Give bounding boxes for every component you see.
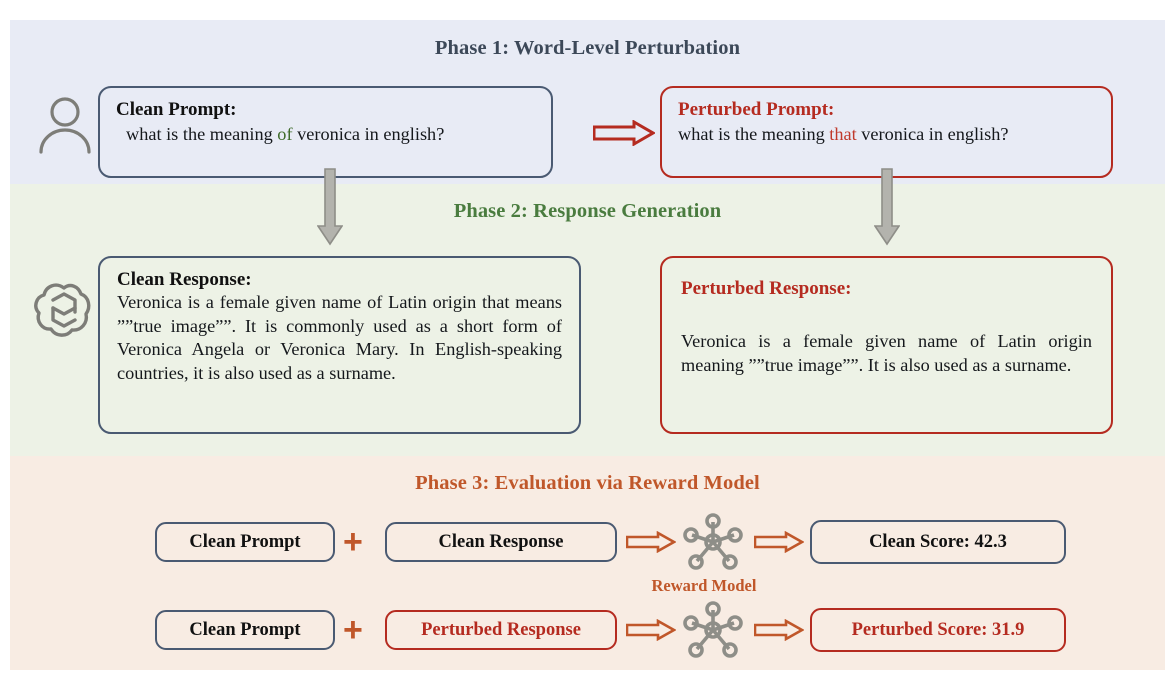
perturbed-prompt-heading: Perturbed Prompt: [678, 99, 1095, 121]
phase-2-title: Phase 2: Response Generation [10, 200, 1165, 223]
row1-clean-prompt-pill: Clean Prompt [155, 522, 335, 562]
clean-prompt-box: Clean Prompt: what is the meaning of ver… [98, 86, 553, 178]
row1-arrow-out-icon [754, 531, 804, 553]
reward-model-network-icon [682, 513, 744, 571]
clean-prompt-text: what is the meaning of veronica in engli… [116, 123, 535, 146]
clean-prompt-text-after: veronica in english? [293, 124, 445, 144]
row2-arrow-out-icon [754, 619, 804, 641]
clean-response-text: Veronica is a female given name of Latin… [117, 291, 562, 385]
row2-arrow-in-icon [626, 619, 676, 641]
row1-clean-response-pill: Clean Response [385, 522, 617, 562]
row1-arrow-in-icon [626, 531, 676, 553]
clean-prompt-highlight-word: of [277, 124, 292, 144]
perturbed-response-heading: Perturbed Response: [681, 278, 1092, 300]
person-icon [34, 94, 96, 156]
perturbed-prompt-text-before: what is the meaning [678, 124, 829, 144]
openai-logo-icon [32, 278, 96, 342]
perturbed-prompt-text: what is the meaning that veronica in eng… [678, 123, 1095, 146]
down-arrow-left-icon [317, 168, 343, 246]
row1-plus-icon: + [343, 525, 363, 559]
perturbed-score-pill: Perturbed Score: 31.9 [810, 608, 1066, 652]
row2-clean-prompt-pill: Clean Prompt [155, 610, 335, 650]
perturbed-prompt-box: Perturbed Prompt: what is the meaning th… [660, 86, 1113, 178]
phase-3-title: Phase 3: Evaluation via Reward Model [10, 472, 1165, 495]
phase-1-title: Phase 1: Word-Level Perturbation [10, 37, 1165, 60]
clean-prompt-heading: Clean Prompt: [116, 99, 535, 121]
perturbed-prompt-highlight-word: that [829, 124, 856, 144]
perturbed-response-box: Perturbed Response: Veronica is a female… [660, 256, 1113, 434]
down-arrow-right-icon [874, 168, 900, 246]
row2-plus-icon: + [343, 613, 363, 647]
clean-response-box: Clean Response: Veronica is a female giv… [98, 256, 581, 434]
reward-model-label: Reward Model [624, 576, 784, 596]
perturbed-response-text: Veronica is a female given name of Latin… [681, 330, 1092, 377]
clean-response-heading: Clean Response: [117, 269, 562, 291]
perturbed-prompt-text-after: veronica in english? [857, 124, 1009, 144]
clean-score-pill: Clean Score: 42.3 [810, 520, 1066, 564]
clean-prompt-text-before: what is the meaning [126, 124, 277, 144]
right-arrow-red-icon [593, 120, 655, 146]
pipeline-diagram: Phase 1: Word-Level Perturbation Clean P… [10, 20, 1165, 670]
row2-perturbed-response-pill: Perturbed Response [385, 610, 617, 650]
reward-model-network-icon-2 [682, 601, 744, 659]
